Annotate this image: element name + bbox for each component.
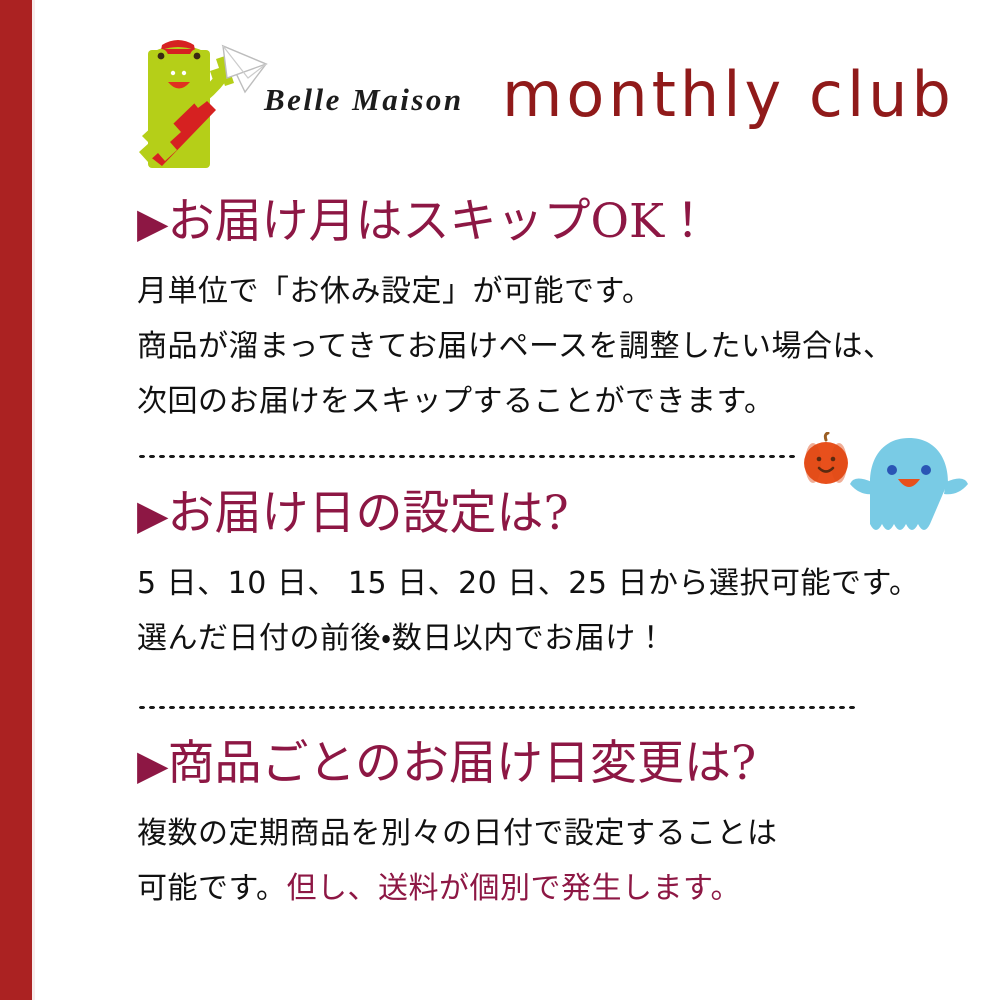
triangle-bullet-icon: ▶	[137, 491, 167, 539]
section-1-heading: ▶お届け月はスキップOK！	[137, 196, 987, 249]
promo-page: Belle Maison monthly club ▶お届け月はスキップOK！ …	[0, 0, 1000, 1000]
page-header: Belle Maison monthly club	[120, 24, 980, 174]
section-per-item-change: ▶商品ごとのお届け日変更は? 複数の定期商品を別々の日付で設定することは 可能で…	[137, 738, 987, 904]
brand-script-text: Belle Maison	[264, 82, 464, 118]
section-2-heading-text: お届け日の設定は?	[168, 486, 569, 541]
divider-1	[137, 454, 795, 459]
section-skip-month: ▶お届け月はスキップOK！ 月単位で「お休み設定」が可能です。 商品が溜まってき…	[137, 196, 987, 417]
section-3-line-1: 複数の定期商品を別々の日付で設定することは	[137, 819, 987, 849]
brand-main-title: monthly club	[502, 64, 955, 126]
section-2-heading: ▶お届け日の設定は?	[137, 488, 987, 541]
triangle-bullet-icon: ▶	[137, 741, 167, 789]
section-delivery-date: ▶お届け日の設定は? 5 日、10 日、 15 日、20 日、25 日から選択可…	[137, 488, 987, 654]
section-3-line-2: 可能です。但し、送料が個別で発生します。	[137, 874, 987, 904]
triangle-bullet-icon: ▶	[137, 199, 167, 247]
section-1-line-1: 月単位で「お休み設定」が可能です。	[137, 277, 987, 307]
section-3-line-2-plain: 可能です。	[137, 871, 287, 906]
section-1-line-3: 次回のお届けをスキップすることができます。	[137, 387, 987, 417]
left-accent-bar-hairline	[32, 0, 35, 1000]
frog-mascot-with-letter-icon	[120, 32, 270, 172]
divider-2	[137, 705, 855, 710]
section-1-line-2: 商品が溜まってきてお届けペースを調整したい場合は、	[137, 332, 987, 362]
section-3-heading-text: 商品ごとのお届け日変更は?	[168, 736, 757, 791]
pumpkin-icon	[800, 432, 852, 488]
section-2-line-1: 5 日、10 日、 15 日、20 日、25 日から選択可能です。	[137, 569, 987, 599]
left-accent-bar	[0, 0, 32, 1000]
section-2-line-2: 選んだ日付の前後・数日以内でお届け！	[137, 624, 987, 654]
section-3-heading: ▶商品ごとのお届け日変更は?	[137, 738, 987, 791]
section-3-shipping-note: 但し、送料が個別で発生します。	[287, 871, 742, 906]
section-1-heading-text: お届け月はスキップOK！	[168, 194, 712, 249]
